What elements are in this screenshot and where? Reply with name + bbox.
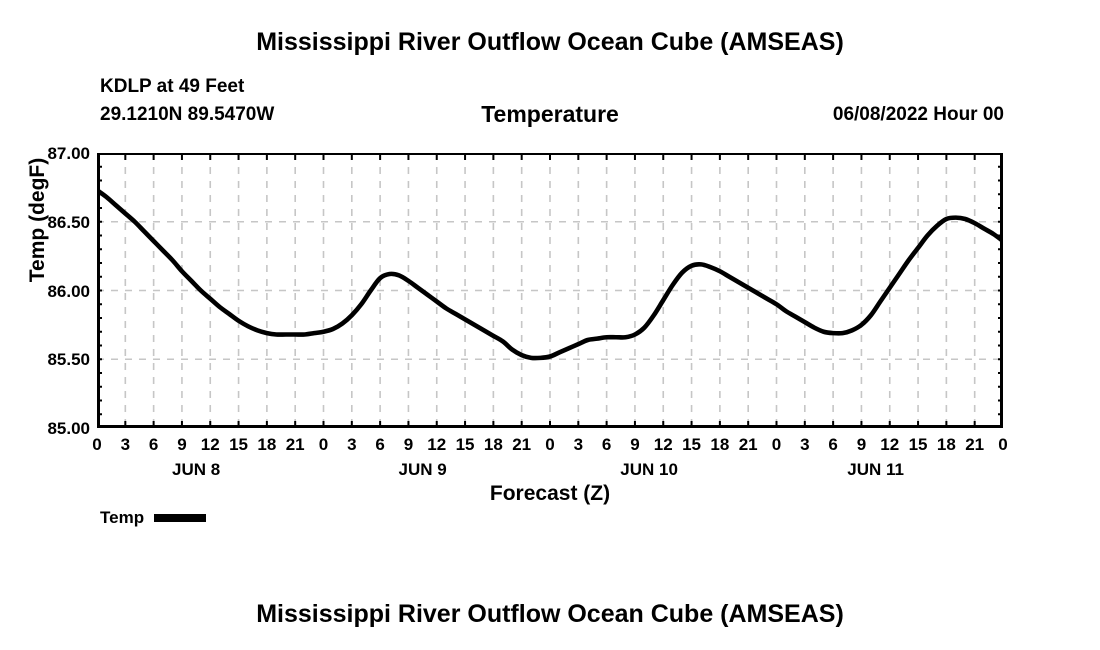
- x-axis-day-label: JUN 10: [620, 460, 678, 480]
- plot-area: [97, 153, 1003, 428]
- x-tick-label: 18: [257, 435, 276, 455]
- y-tick-label: 87.00: [47, 144, 90, 164]
- x-tick-label: 12: [654, 435, 673, 455]
- x-tick-label: 18: [937, 435, 956, 455]
- x-tick-label: 21: [965, 435, 984, 455]
- y-tick-label: 85.50: [47, 350, 90, 370]
- x-tick-label: 18: [710, 435, 729, 455]
- x-tick-label: 15: [229, 435, 248, 455]
- x-tick-label: 0: [319, 435, 328, 455]
- legend-swatch-temp: [154, 514, 206, 522]
- y-tick-label: 86.50: [47, 213, 90, 233]
- x-tick-label: 0: [998, 435, 1007, 455]
- x-tick-label: 6: [149, 435, 158, 455]
- x-tick-label: 9: [630, 435, 639, 455]
- x-tick-label: 0: [545, 435, 554, 455]
- x-tick-label: 9: [177, 435, 186, 455]
- legend: Temp: [100, 508, 206, 528]
- x-tick-label: 9: [404, 435, 413, 455]
- x-tick-label: 15: [909, 435, 928, 455]
- page-title-bottom: Mississippi River Outflow Ocean Cube (AM…: [0, 600, 1100, 629]
- x-tick-label: 18: [484, 435, 503, 455]
- station-label: KDLP at 49 Feet: [100, 76, 244, 98]
- x-tick-label: 3: [800, 435, 809, 455]
- x-tick-label: 12: [427, 435, 446, 455]
- x-tick-label: 9: [857, 435, 866, 455]
- x-tick-label: 3: [347, 435, 356, 455]
- x-tick-label: 15: [682, 435, 701, 455]
- x-axis-day-label: JUN 9: [399, 460, 447, 480]
- x-tick-label: 0: [92, 435, 101, 455]
- plot-frame: [97, 153, 1003, 428]
- model-run-label: 06/08/2022 Hour 00: [833, 104, 1004, 126]
- x-tick-label: 21: [739, 435, 758, 455]
- x-tick-label: 6: [375, 435, 384, 455]
- x-tick-label: 3: [121, 435, 130, 455]
- x-tick-label: 15: [456, 435, 475, 455]
- x-tick-label: 6: [828, 435, 837, 455]
- chart-page: Mississippi River Outflow Ocean Cube (AM…: [0, 0, 1100, 650]
- x-tick-label: 3: [574, 435, 583, 455]
- x-tick-label: 12: [880, 435, 899, 455]
- x-tick-label: 21: [512, 435, 531, 455]
- y-tick-label: 85.00: [47, 419, 90, 439]
- x-tick-label: 12: [201, 435, 220, 455]
- y-axis-title: Temp (degF): [26, 120, 50, 320]
- x-tick-label: 0: [772, 435, 781, 455]
- x-tick-label: 6: [602, 435, 611, 455]
- legend-label-temp: Temp: [100, 508, 144, 528]
- x-axis-day-label: JUN 11: [847, 460, 904, 480]
- x-axis-day-label: JUN 8: [172, 460, 220, 480]
- page-title-top: Mississippi River Outflow Ocean Cube (AM…: [0, 28, 1100, 57]
- x-axis-title: Forecast (Z): [0, 482, 1100, 506]
- y-tick-label: 86.00: [47, 282, 90, 302]
- x-tick-label: 21: [286, 435, 305, 455]
